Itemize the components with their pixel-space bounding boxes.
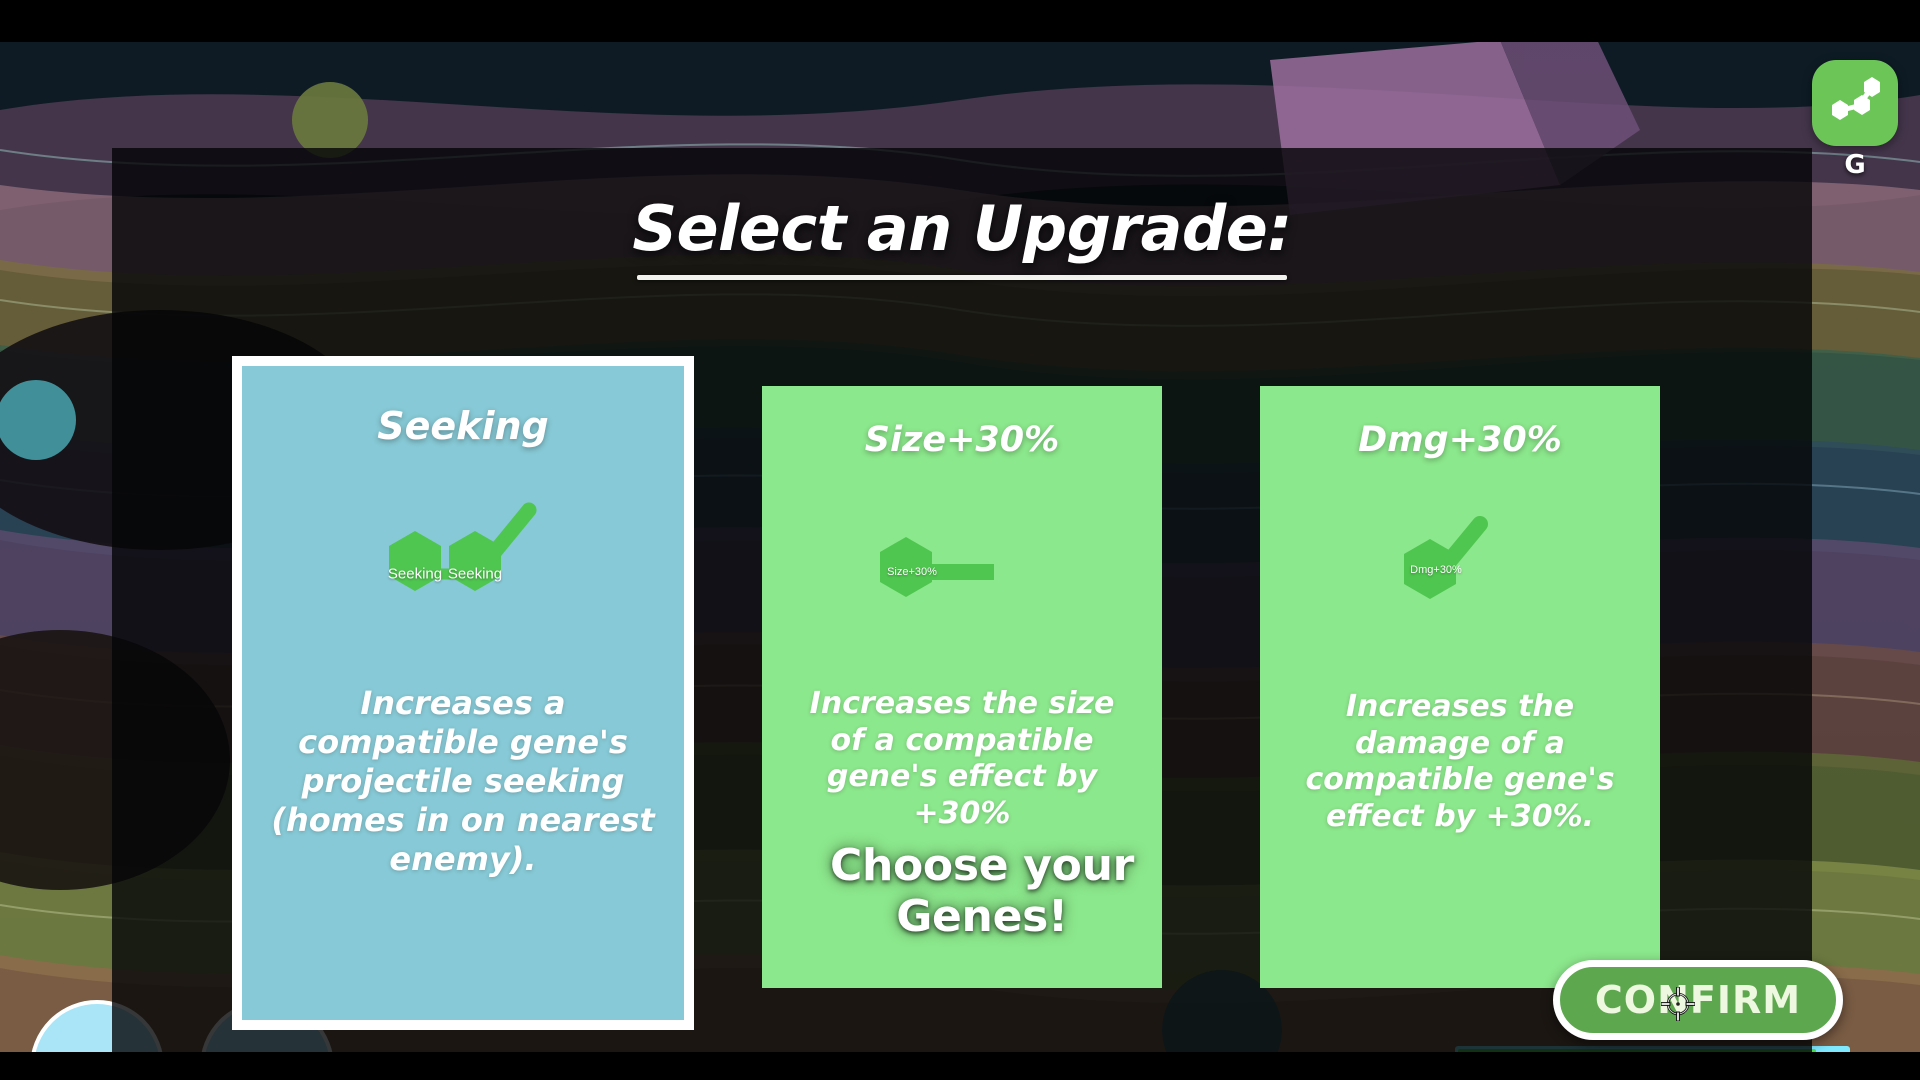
gene-damage-icon: Dmg+30% <box>1370 512 1550 637</box>
gene-app-label: G <box>1812 150 1898 180</box>
gene-app-shortcut[interactable]: G <box>1812 60 1898 180</box>
gene-size-icon: Size+30% <box>872 520 1052 630</box>
upgrade-card-size-description: Increases the size of a compatible gene'… <box>778 686 1146 832</box>
upgrade-card-damage[interactable]: Dmg+30% Dmg+30% Increases the damage of … <box>1260 386 1660 988</box>
gene-label-size: Size+30% <box>887 566 937 578</box>
gene-molecule-svg <box>1824 72 1886 134</box>
upgrade-card-seeking-description: Increases a compatible gene's projectile… <box>242 684 684 879</box>
confirm-button-label: CONFIRM <box>1595 978 1801 1022</box>
upgrade-card-damage-description: Increases the damage of a compatible gen… <box>1276 689 1644 835</box>
upgrade-card-seeking-title: Seeking <box>377 404 548 448</box>
gene-molecule-icon <box>1812 60 1898 146</box>
letterbox-top <box>0 0 1920 42</box>
upgrade-card-seeking-body: Seeking Seeking Seeking Increases a comp… <box>242 366 684 1020</box>
gene-pair-seeking-icon: Seeking Seeking <box>353 496 573 646</box>
game-screen: ROLL SHOP Select an Upgrade: Seeking <box>0 0 1920 1080</box>
upgrade-card-seeking[interactable]: Seeking Seeking Seeking Increases a comp… <box>232 356 694 1030</box>
confirm-button[interactable]: CONFIRM <box>1553 960 1843 1040</box>
upgrade-card-damage-title: Dmg+30% <box>1358 420 1562 460</box>
gene-label-right: Seeking <box>448 566 502 583</box>
letterbox-bottom <box>0 1052 1920 1080</box>
upgrade-card-size-title: Size+30% <box>865 420 1059 460</box>
gene-label-left: Seeking <box>388 566 442 583</box>
choose-genes-headline: Choose your Genes! <box>762 840 1202 942</box>
gene-label-damage: Dmg+30% <box>1410 564 1462 576</box>
